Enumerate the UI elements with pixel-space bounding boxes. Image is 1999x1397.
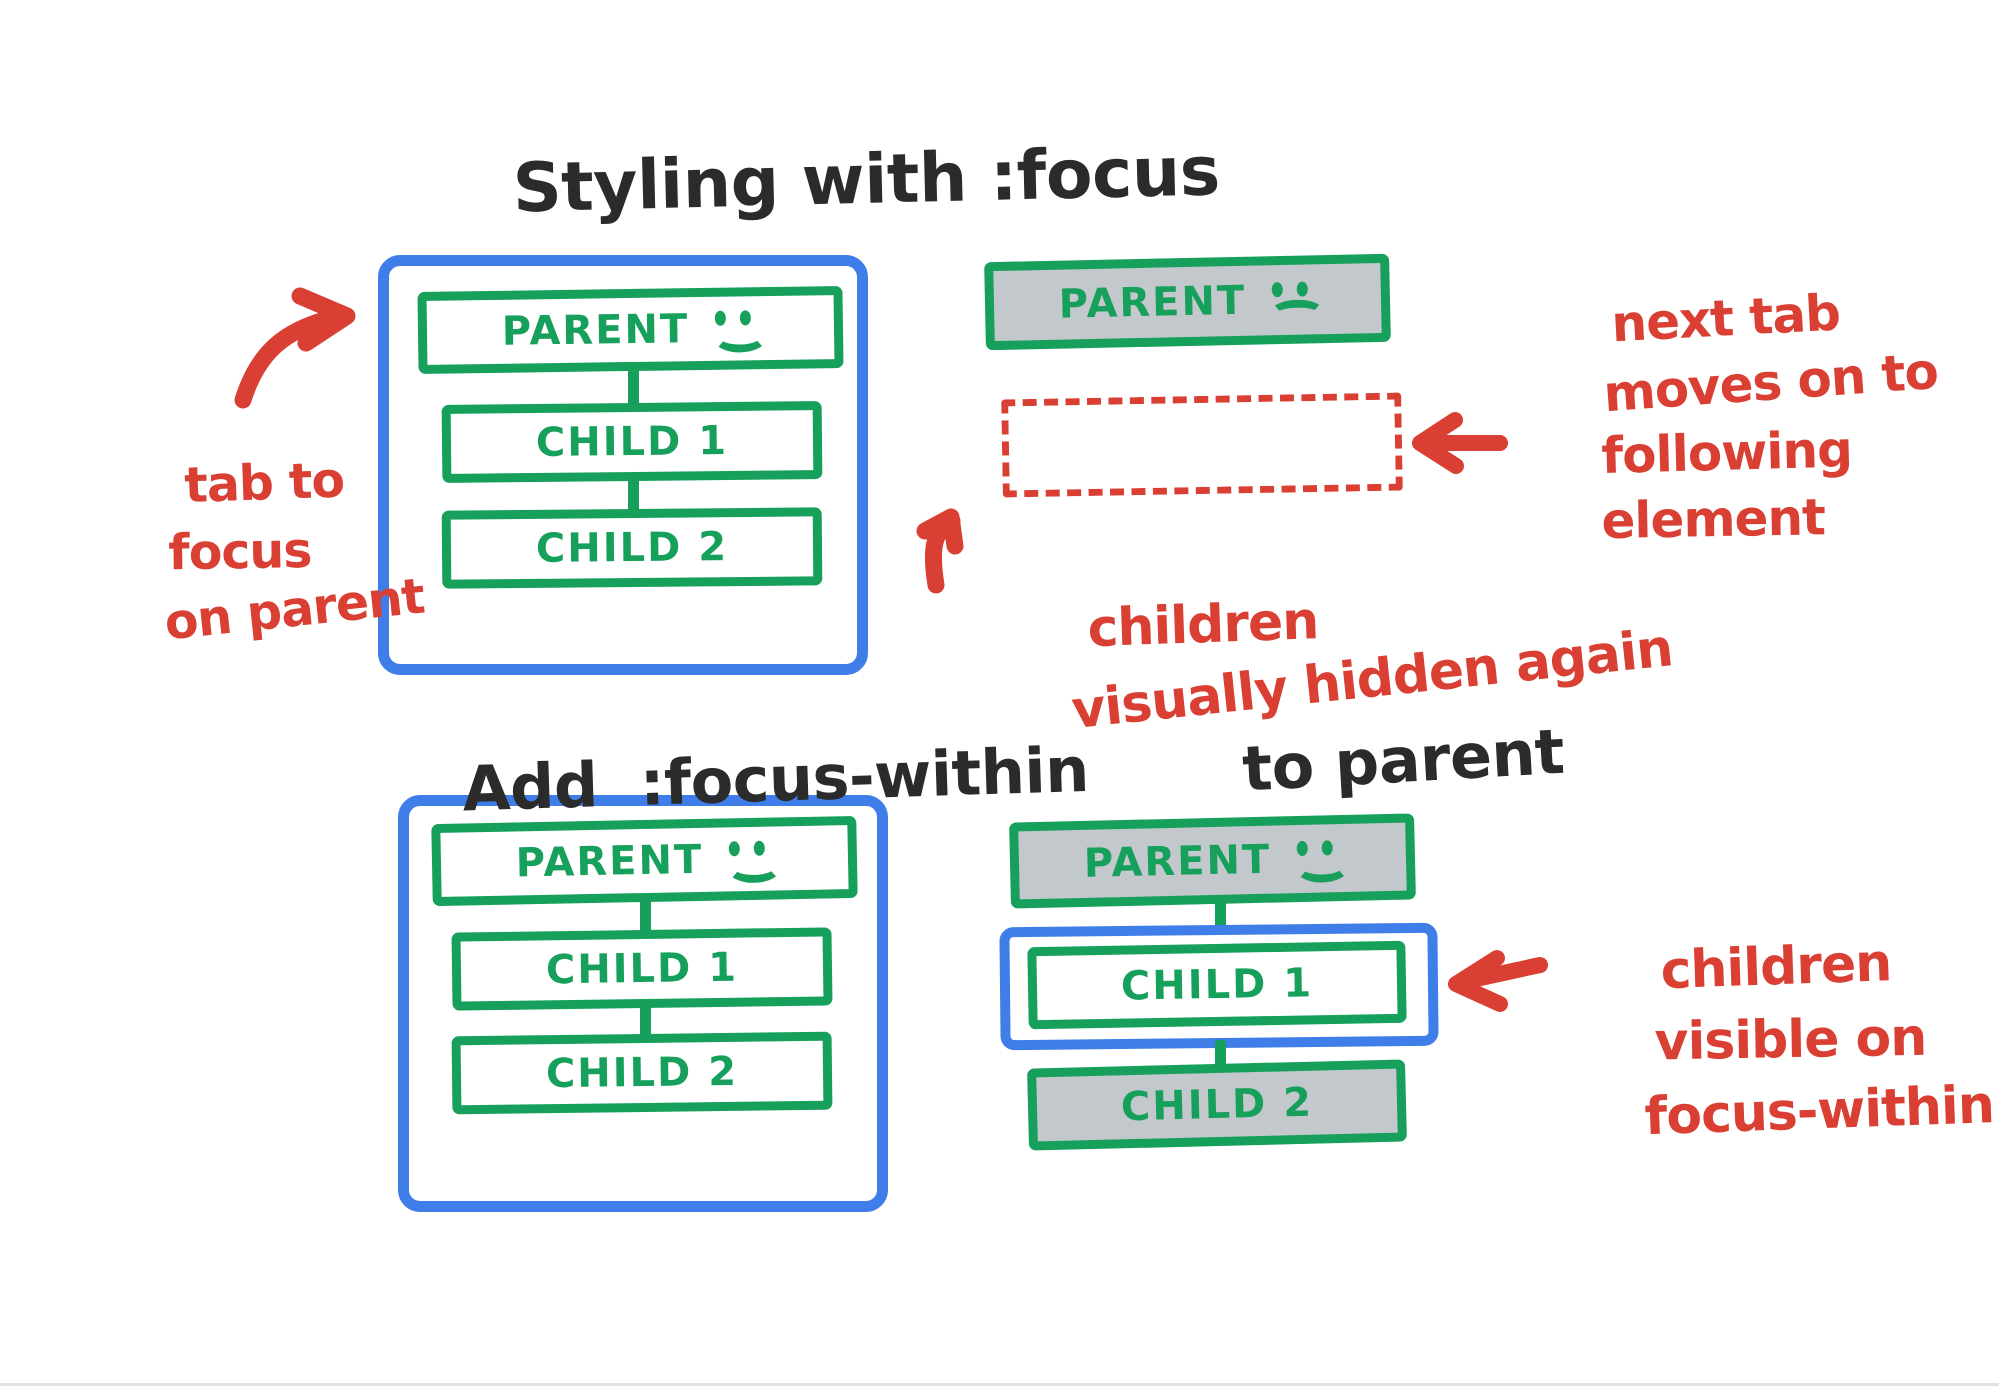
node-child1-bottom-left-label: CHILD 1 (546, 945, 739, 994)
page-title-text: Styling with :focus (512, 133, 1221, 229)
node-parent-top-left[interactable]: PARENT (417, 286, 843, 374)
node-child2-bottom-right-label: CHILD 2 (1120, 1080, 1313, 1131)
arrow-left-icon-hidden-children (1420, 420, 1500, 466)
node-child2-bottom-left[interactable]: CHILD 2 (452, 1032, 833, 1115)
hidden-children-placeholder (1001, 393, 1403, 498)
connector-parent-child1-bottom-left (640, 899, 651, 933)
connector-child1-child2-bottom-left (640, 1005, 651, 1037)
connector-parent-child1-top-left (628, 368, 639, 406)
bottom-divider (0, 1383, 1999, 1386)
node-child1-bottom-left[interactable]: CHILD 1 (451, 927, 832, 1010)
node-parent-top-right-label: PARENT (1058, 276, 1316, 327)
node-child1-top-left[interactable]: CHILD 1 (442, 401, 823, 483)
smiley-face-icon (707, 308, 760, 349)
annotation-children-visible-line-3: focus-within (1644, 1075, 1995, 1147)
node-parent-top-left-label: PARENT (501, 305, 759, 355)
connector-parent-child1-bottom-right (1215, 900, 1226, 932)
curved-arrow-right-icon (243, 296, 347, 400)
node-child1-bottom-right[interactable]: CHILD 1 (1027, 941, 1406, 1030)
node-child1-bottom-right-label: CHILD 1 (1121, 960, 1314, 1009)
sad-face-icon (1264, 279, 1317, 320)
node-parent-top-right[interactable]: PARENT (984, 254, 1391, 350)
hook-arrow-up-icon (925, 517, 955, 585)
connector-child1-child2-top-left (628, 478, 639, 512)
whiteboard-canvas: Styling with :focus PARENT CHILD 1 CHILD… (0, 0, 1999, 1397)
annotation-next-tab-line-4: element (1601, 488, 1825, 550)
node-child2-bottom-right[interactable]: CHILD 2 (1027, 1059, 1407, 1150)
arrow-left-icon-children-visible (1456, 958, 1540, 1004)
node-child1-top-left-label: CHILD 1 (536, 418, 729, 466)
annotation-children-hidden-line-2: visually hidden again (1069, 618, 1675, 741)
section-heading-add: Add (461, 749, 598, 826)
node-child2-top-left[interactable]: CHILD 2 (442, 507, 823, 588)
node-child2-bottom-left-label: CHILD 2 (546, 1049, 739, 1097)
annotation-tab-to-focus-line-3: on parent (162, 567, 427, 651)
node-child2-top-left-label: CHILD 2 (536, 524, 729, 572)
